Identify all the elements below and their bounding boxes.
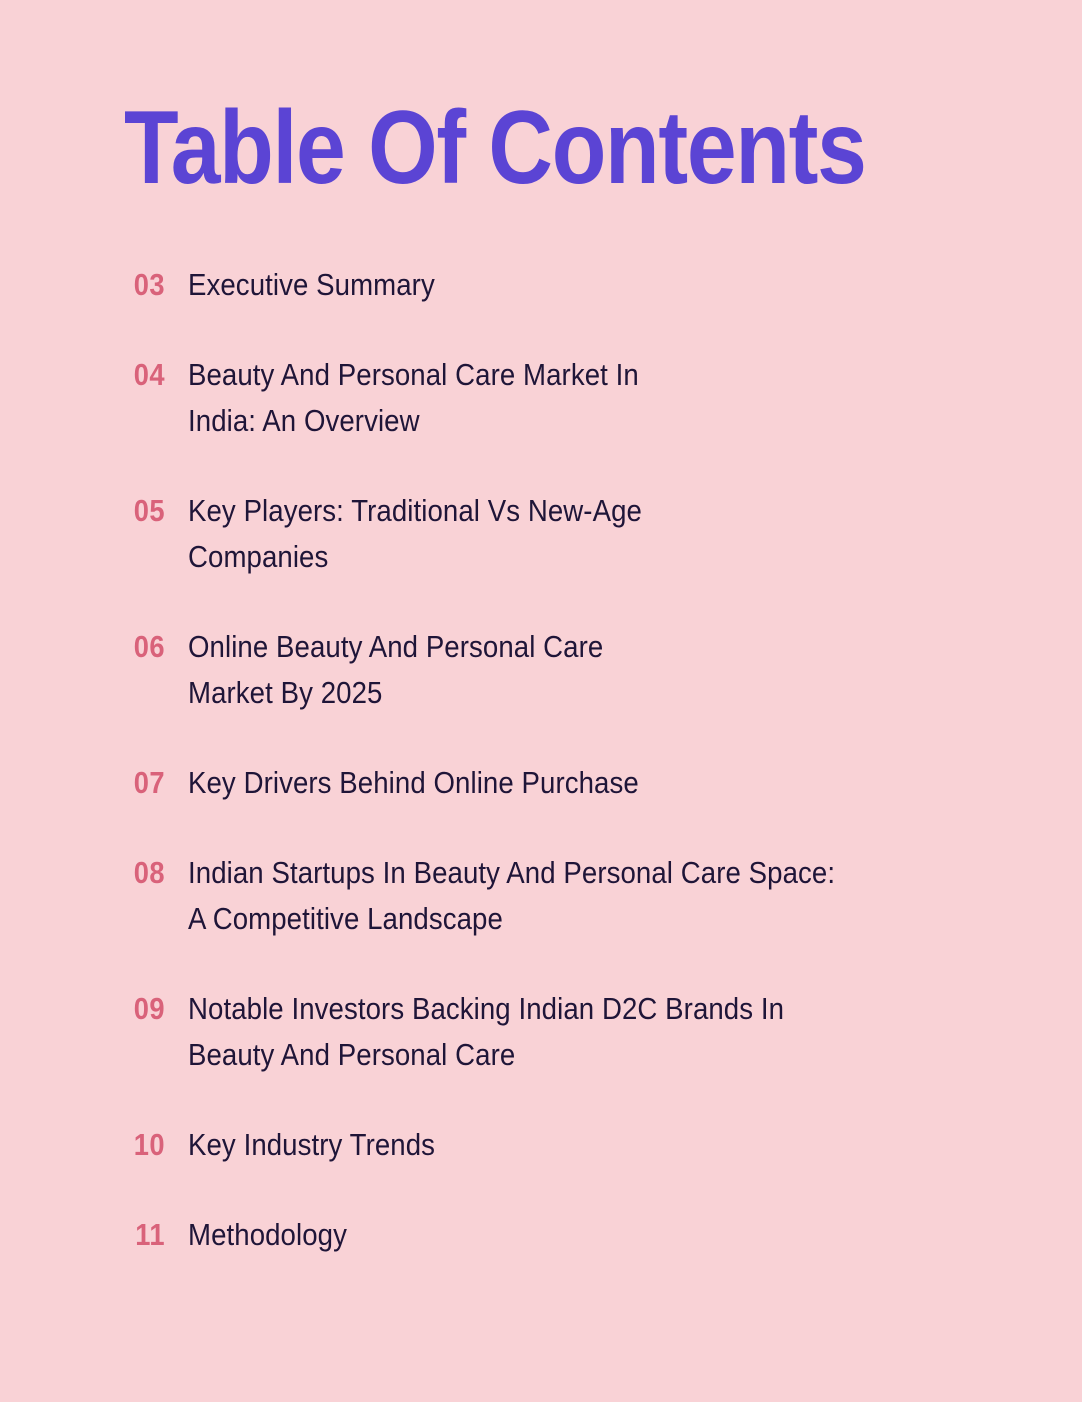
- page-title: Table Of Contents: [124, 96, 866, 200]
- toc-entry-title-line: Companies: [188, 534, 930, 580]
- toc-entry-title: Key Drivers Behind Online Purchase: [188, 760, 984, 806]
- toc-entry-title-line: Online Beauty And Personal Care: [188, 624, 930, 670]
- toc-entry-title: Executive Summary: [188, 262, 984, 308]
- toc-entry-title: Notable Investors Backing Indian D2C Bra…: [188, 986, 984, 1078]
- toc-entry-title-line: Key Drivers Behind Online Purchase: [188, 760, 930, 806]
- toc-entry[interactable]: 06Online Beauty And Personal CareMarket …: [0, 624, 1082, 716]
- toc-entry-title: Indian Startups In Beauty And Personal C…: [188, 850, 984, 942]
- table-of-contents-list: 03Executive Summary04Beauty And Personal…: [0, 262, 1082, 1258]
- toc-entry-title: Beauty And Personal Care Market InIndia:…: [188, 352, 984, 444]
- toc-entry-title-line: Key Players: Traditional Vs New-Age: [188, 488, 930, 534]
- toc-entry-page-number: 03: [125, 262, 165, 308]
- toc-entry-title-line: A Competitive Landscape: [188, 896, 930, 942]
- toc-entry-title-line: Beauty And Personal Care Market In: [188, 352, 930, 398]
- toc-entry-title-line: Key Industry Trends: [188, 1122, 930, 1168]
- toc-page: Table Of Contents 03Executive Summary04B…: [0, 0, 1082, 1402]
- toc-entry[interactable]: 05Key Players: Traditional Vs New-AgeCom…: [0, 488, 1082, 580]
- toc-entry-page-number: 10: [125, 1122, 165, 1168]
- toc-entry[interactable]: 03Executive Summary: [0, 262, 1082, 308]
- toc-entry-title: Key Industry Trends: [188, 1122, 984, 1168]
- toc-entry-title-line: Indian Startups In Beauty And Personal C…: [188, 850, 930, 896]
- toc-entry-page-number: 09: [125, 986, 165, 1032]
- toc-entry-page-number: 07: [125, 760, 165, 806]
- toc-entry[interactable]: 10Key Industry Trends: [0, 1122, 1082, 1168]
- toc-entry-page-number: 05: [125, 488, 165, 534]
- toc-entry-title-line: Executive Summary: [188, 262, 930, 308]
- toc-entry[interactable]: 11Methodology: [0, 1212, 1082, 1258]
- toc-entry[interactable]: 04Beauty And Personal Care Market InIndi…: [0, 352, 1082, 444]
- toc-entry-title-line: Market By 2025: [188, 670, 930, 716]
- toc-entry-title-line: Notable Investors Backing Indian D2C Bra…: [188, 986, 930, 1032]
- toc-entry-title-line: Methodology: [188, 1212, 930, 1258]
- toc-entry-title-line: India: An Overview: [188, 398, 930, 444]
- toc-entry-title: Key Players: Traditional Vs New-AgeCompa…: [188, 488, 984, 580]
- toc-entry-page-number: 11: [125, 1212, 165, 1258]
- toc-entry-page-number: 08: [125, 850, 165, 896]
- toc-entry[interactable]: 09Notable Investors Backing Indian D2C B…: [0, 986, 1082, 1078]
- toc-entry-title-line: Beauty And Personal Care: [188, 1032, 930, 1078]
- toc-entry-page-number: 06: [125, 624, 165, 670]
- toc-entry[interactable]: 08Indian Startups In Beauty And Personal…: [0, 850, 1082, 942]
- toc-entry[interactable]: 07Key Drivers Behind Online Purchase: [0, 760, 1082, 806]
- toc-entry-title: Online Beauty And Personal CareMarket By…: [188, 624, 984, 716]
- toc-entry-title: Methodology: [188, 1212, 984, 1258]
- toc-entry-page-number: 04: [125, 352, 165, 398]
